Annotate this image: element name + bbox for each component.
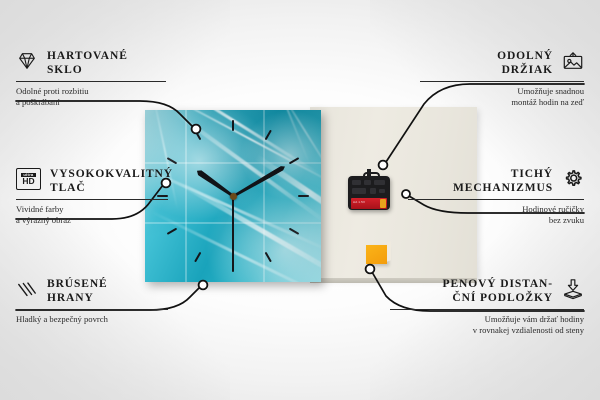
feature-desc-line: Hladký a bezpečný povrch — [16, 314, 108, 324]
picture-hanger-icon — [562, 50, 584, 72]
feature-desc-line: bez zvuku — [549, 215, 584, 225]
feature-title-line: SKLO — [47, 64, 83, 76]
feature-silent-mechanism: TICHÝ MECHANIZMUS Hodinové ručičky bez z… — [408, 168, 584, 226]
ground-edges-icon — [16, 278, 38, 300]
battery-label: AA 1.5V — [353, 200, 365, 204]
feature-desc-line: a výrazný obraz — [16, 215, 71, 225]
product-infographic: AA 1.5V — [0, 0, 600, 400]
divider — [16, 199, 168, 200]
feature-desc-line: montáž hodin na zeď — [511, 97, 584, 107]
feature-desc-line: a poškrábaní — [16, 97, 60, 107]
feature-title-line: HARTOVANÉ — [47, 50, 128, 62]
ultra-hd-icon: ultra HD — [16, 168, 41, 190]
divider — [16, 81, 166, 82]
wall-clock — [145, 110, 321, 282]
feature-desc-line: Vividné farby — [16, 204, 63, 214]
clock-mechanism: AA 1.5V — [348, 172, 390, 210]
divider — [16, 309, 168, 310]
foam-spacer-icon — [562, 278, 584, 300]
feature-durable-holder: ODOLNÝ DRŽIAK Umožňuje snadnou montáž ho… — [420, 50, 584, 108]
feature-title-line: DRŽIAK — [502, 64, 553, 76]
feature-foam-spacers: PENOVÝ DISTAN- ČNÍ PODLOŽKY Umožňuje vám… — [390, 278, 584, 336]
feature-title-line: VYSOKOKVALITNÝ — [50, 168, 173, 180]
feature-desc-line: Umožňuje snadnou — [517, 86, 584, 96]
divider — [420, 81, 584, 82]
diamond-icon — [16, 50, 38, 72]
divider — [390, 309, 584, 310]
feature-title-line: HRANY — [47, 292, 94, 304]
feature-title-line: BRÚSENÉ — [47, 278, 108, 290]
foam-spacer-pad — [366, 245, 387, 264]
glass-sheen — [145, 110, 321, 282]
feature-title-line: ČNÍ PODLOŽKY — [452, 292, 553, 304]
battery: AA 1.5V — [351, 198, 387, 209]
feature-title-line: TICHÝ — [511, 168, 553, 180]
ultra-hd-bottom-label: HD — [22, 177, 34, 186]
feature-title-line: ODOLNÝ — [497, 50, 553, 62]
gear-icon — [562, 168, 584, 190]
divider — [408, 199, 584, 200]
feature-desc-line: Umožňuje vám držať hodiny — [485, 314, 584, 324]
feature-high-quality-print: ultra HD VYSOKOKVALITNÝ TLAČ Vividné far… — [16, 168, 168, 226]
feature-desc-line: Hodinové ručičky — [522, 204, 584, 214]
feature-hardened-glass: HARTOVANÉ SKLO Odolné proti rozbitiu a p… — [16, 50, 166, 108]
mechanism-body: AA 1.5V — [348, 176, 390, 210]
feature-title-line: MECHANIZMUS — [453, 182, 553, 194]
feature-title-line: TLAČ — [50, 182, 86, 194]
feature-ground-edges: BRÚSENÉ HRANY Hladký a bezpečný povrch — [16, 278, 168, 325]
feature-title-line: PENOVÝ DISTAN- — [443, 278, 553, 290]
feature-desc-line: v rovnakej vzdialenosti od steny — [473, 325, 584, 335]
feature-desc-line: Odolné proti rozbitiu — [16, 86, 89, 96]
